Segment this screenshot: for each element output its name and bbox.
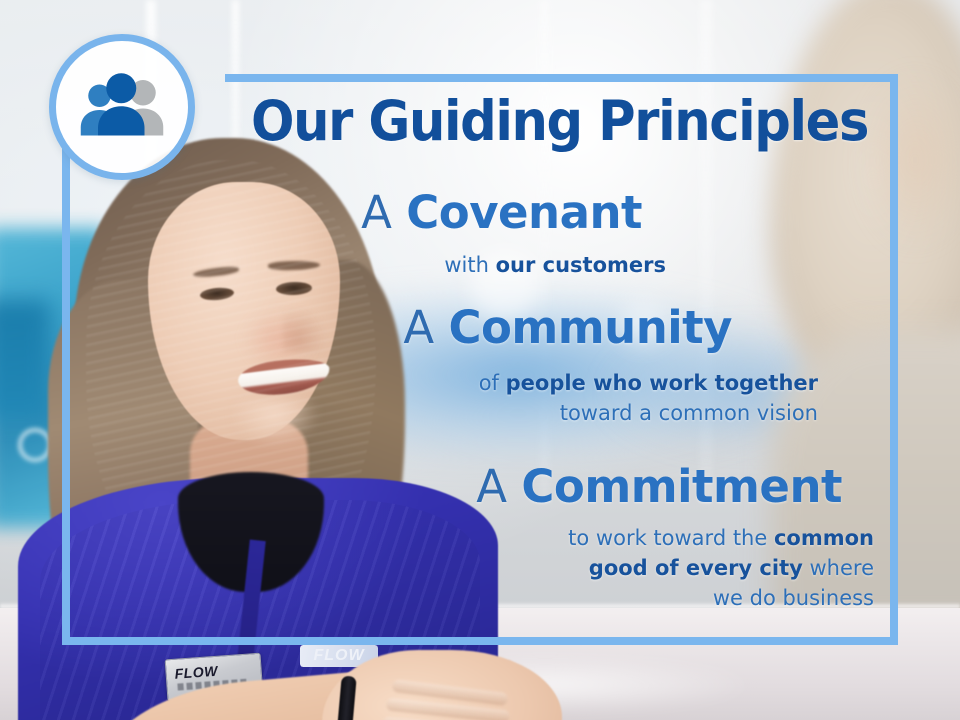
subtext-run: to work toward the [568, 526, 774, 550]
subtext-emphasis: our customers [496, 253, 666, 277]
principle-article: A [403, 301, 448, 354]
principle-keyword: Covenant [406, 186, 642, 239]
principle-subtext-covenant: with our customers [444, 250, 666, 280]
principle-keyword: Community [448, 301, 732, 354]
principle-heading-commitment: A Commitment [476, 462, 842, 512]
principle-article: A [361, 186, 406, 239]
subtext-run: we do business [713, 586, 874, 610]
principle-subtext-line: good of every city where [568, 553, 874, 583]
principle-subtext-line: of people who work together [479, 368, 818, 398]
page-title: Our Guiding Principles [61, 92, 868, 150]
principle-keyword: Commitment [521, 460, 842, 513]
principle-subtext-community: of people who work togethertoward a comm… [479, 368, 818, 428]
subtext-run: of [479, 371, 506, 395]
subtext-run: where [803, 556, 874, 580]
principle-subtext-line: we do business [568, 583, 874, 613]
subtext-emphasis: good of every city [589, 556, 803, 580]
principle-subtext-line: with our customers [444, 250, 666, 280]
subtext-run: toward a common vision [560, 401, 818, 425]
principle-heading-community: A Community [403, 303, 732, 353]
principle-subtext-line: toward a common vision [479, 398, 818, 428]
principle-heading-covenant: A Covenant [361, 188, 642, 238]
poster-text: Our Guiding Principles A Covenant with o… [0, 0, 960, 720]
subtext-emphasis: common [774, 526, 874, 550]
guiding-principles-poster: FLOW FLOW [0, 0, 960, 720]
principle-subtext-commitment: to work toward the commongood of every c… [568, 523, 874, 613]
principle-article: A [476, 460, 521, 513]
subtext-emphasis: people who work together [506, 371, 818, 395]
principle-subtext-line: to work toward the common [568, 523, 874, 553]
subtext-run: with [444, 253, 495, 277]
